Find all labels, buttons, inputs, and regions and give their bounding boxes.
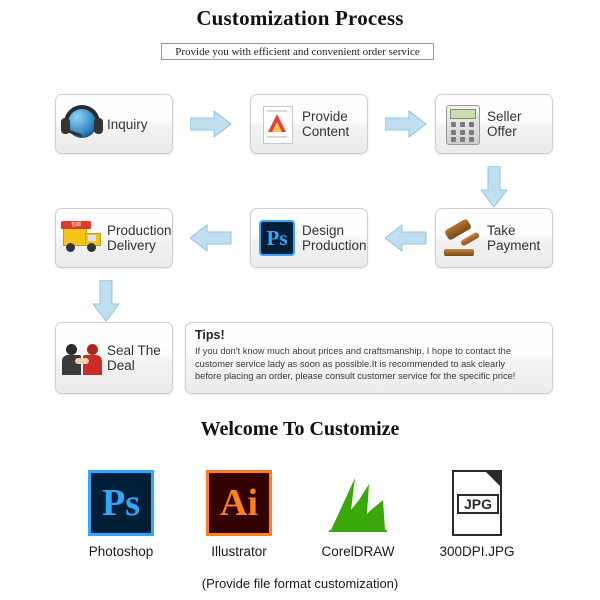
photoshop-icon: Ps xyxy=(255,216,299,260)
step-take-payment-label: Take Payment xyxy=(484,223,540,253)
step-offer-line1: Seller xyxy=(487,109,522,124)
jpg-glyph: JPG xyxy=(457,494,499,514)
step-production-delivery-label: Production Delivery xyxy=(104,223,172,253)
step-seal-line1: Seal The xyxy=(107,343,161,358)
calculator-icon xyxy=(440,102,484,146)
illustrator-icon: Ai xyxy=(206,470,272,536)
step-inquiry: Inquiry xyxy=(55,94,173,154)
software-illustrator-label: Illustrator xyxy=(184,544,294,559)
tips-line-2: customer service lady as soon as possibl… xyxy=(195,358,544,371)
step-seal-the-deal: Seal The Deal xyxy=(55,322,173,394)
step-design-line2: Production xyxy=(302,238,367,253)
step-delivery-line1: Production xyxy=(107,223,172,238)
tips-body: If you don't know much about prices and … xyxy=(195,345,544,383)
step-provide-line2: Content xyxy=(302,124,349,139)
software-illustrator: Ai Illustrator xyxy=(184,470,294,559)
software-photoshop: Ps Photoshop xyxy=(66,470,176,559)
tips-line-1: If you don't know much about prices and … xyxy=(195,345,544,358)
format-note: (Provide file format customization) xyxy=(0,576,600,591)
arrow-left-1 xyxy=(385,224,427,252)
subtitle-banner: Provide you with efficient and convenien… xyxy=(161,43,434,60)
software-photoshop-label: Photoshop xyxy=(66,544,176,559)
welcome-title: Welcome To Customize xyxy=(0,418,600,441)
arrow-left-2 xyxy=(190,224,232,252)
truck-banner: 包邮 xyxy=(61,221,91,229)
step-payment-line2: Payment xyxy=(487,238,540,253)
photoshop-icon: Ps xyxy=(88,470,154,536)
step-design-production: Ps Design Production xyxy=(250,208,368,268)
photoshop-glyph: Ps xyxy=(88,470,154,536)
infographic-page: Customization Process Provide you with e… xyxy=(0,0,600,600)
software-coreldraw-label: CorelDRAW xyxy=(303,544,413,559)
step-delivery-line2: Delivery xyxy=(107,238,172,253)
step-seal-line2: Deal xyxy=(107,358,161,373)
step-seal-the-deal-label: Seal The Deal xyxy=(104,343,161,373)
tips-title: Tips! xyxy=(195,328,544,342)
jpg-file-icon: JPG xyxy=(444,470,510,536)
gavel-icon xyxy=(440,216,484,260)
illustrator-glyph: Ai xyxy=(206,470,272,536)
document-a-icon xyxy=(255,102,299,146)
arrow-right-1 xyxy=(190,110,232,138)
arrow-right-2 xyxy=(385,110,427,138)
step-provide-line1: Provide xyxy=(302,109,349,124)
step-seller-offer: Seller Offer xyxy=(435,94,553,154)
step-offer-line2: Offer xyxy=(487,124,522,139)
page-title: Customization Process xyxy=(0,6,600,31)
step-design-line1: Design xyxy=(302,223,367,238)
step-design-production-label: Design Production xyxy=(299,223,367,253)
software-jpg-label: 300DPI.JPG xyxy=(422,544,532,559)
software-coreldraw: CorelDRAW xyxy=(303,470,413,559)
software-jpg: JPG 300DPI.JPG xyxy=(422,470,532,559)
step-payment-line1: Take xyxy=(487,223,540,238)
arrow-down-2 xyxy=(92,280,120,322)
step-seller-offer-label: Seller Offer xyxy=(484,109,522,139)
arrow-down-1 xyxy=(480,166,508,208)
step-inquiry-label: Inquiry xyxy=(104,117,148,132)
tips-box: Tips! If you don't know much about price… xyxy=(185,322,553,394)
handshake-icon xyxy=(60,336,104,380)
coreldraw-icon xyxy=(325,470,391,536)
headset-icon xyxy=(60,102,104,146)
step-take-payment: Take Payment xyxy=(435,208,553,268)
delivery-truck-icon: 包邮 xyxy=(60,216,104,260)
step-provide-content-label: Provide Content xyxy=(299,109,349,139)
step-provide-content: Provide Content xyxy=(250,94,368,154)
tips-line-3: before placing an order, please consult … xyxy=(195,370,544,383)
step-production-delivery: 包邮 Production Delivery xyxy=(55,208,173,268)
